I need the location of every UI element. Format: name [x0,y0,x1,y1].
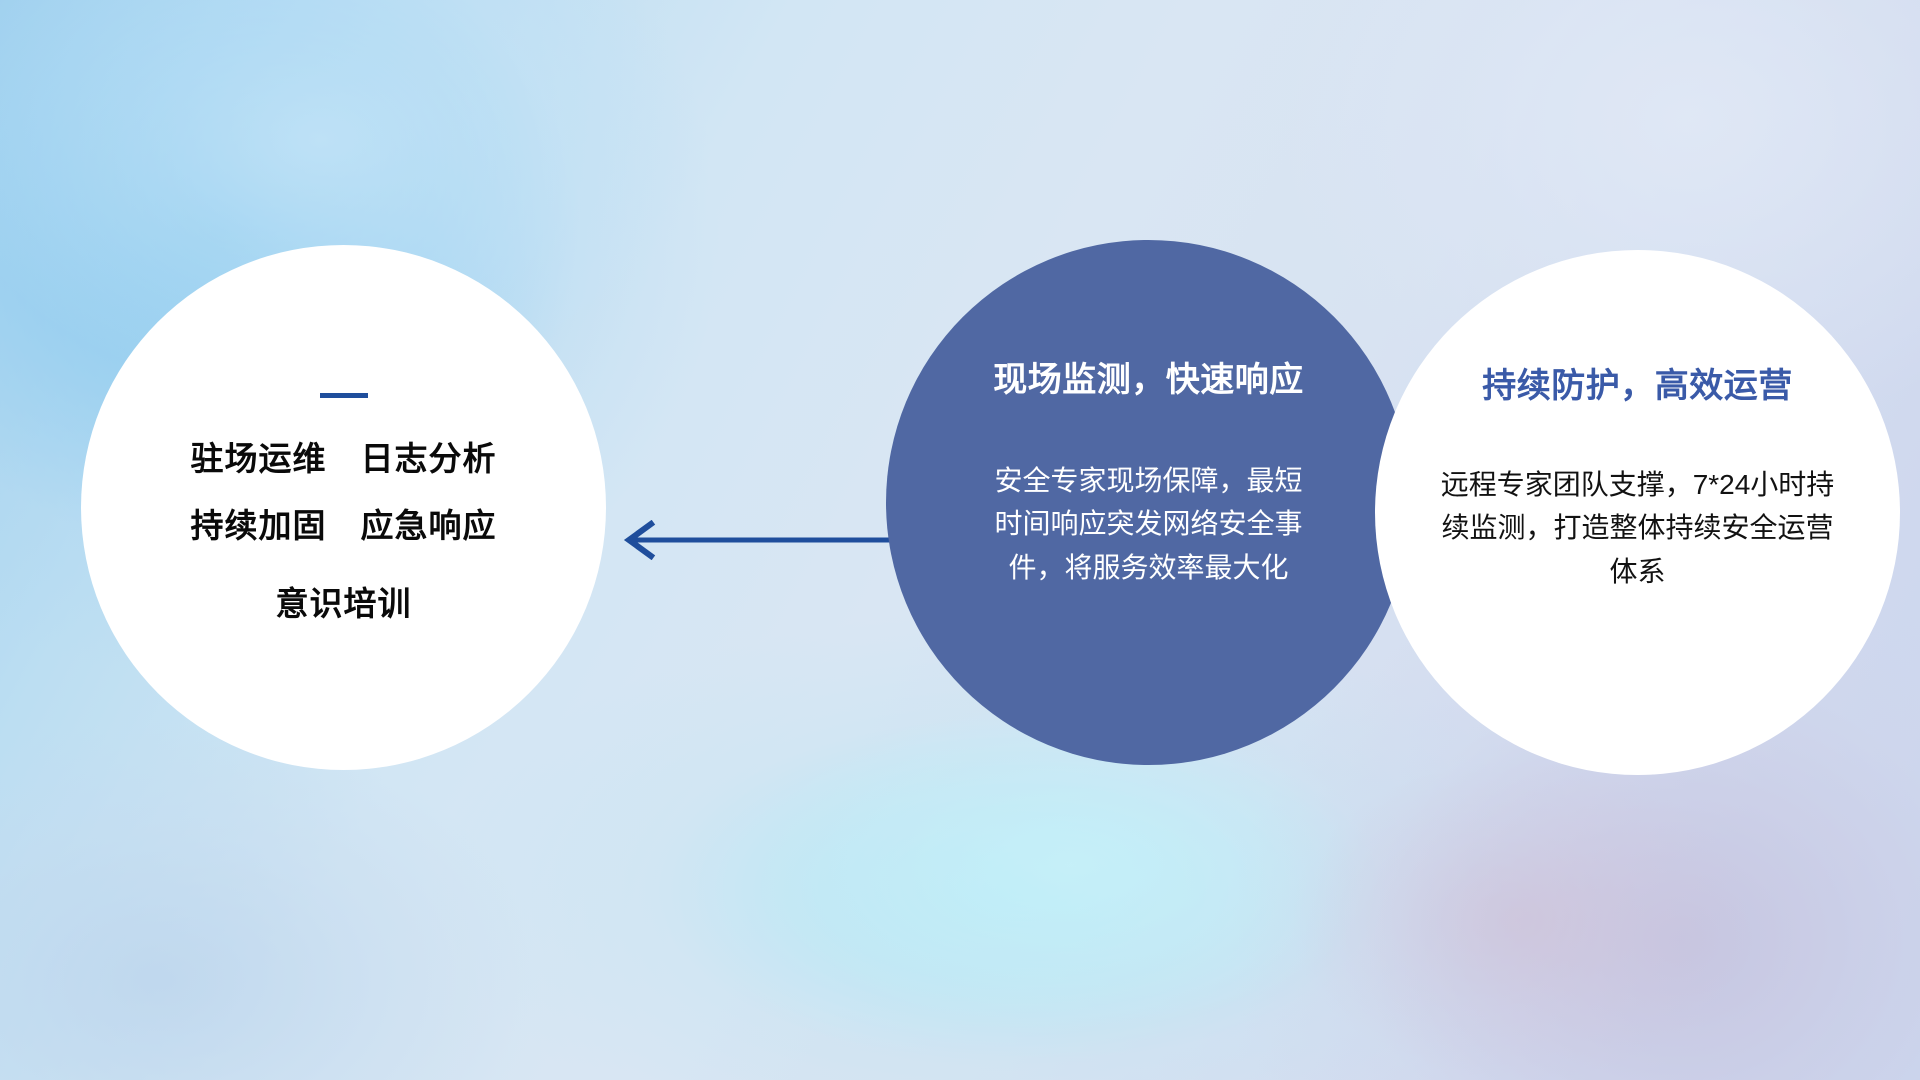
background-glow-lavender-warm [1290,760,1750,1080]
capabilities-content: 驻场运维 日志分析 持续加固 应急响应 意识培训 [81,245,606,770]
capability-line-1: 驻场运维 日志分析 [191,442,497,477]
capability-line-3: 意识培训 [276,587,412,622]
connector-arrow [605,520,895,560]
continuous-protection-body: 远程专家团队支撑，7*24小时持续监测，打造整体持续安全运营体系 [1429,463,1847,593]
accent-dash-icon [320,393,368,398]
onsite-monitoring-content: 现场监测，快速响应 安全专家现场保障，最短时间响应突发网络安全事件，将服务效率最… [886,240,1411,765]
background-glow-bottom-left [0,720,540,1080]
onsite-monitoring-title: 现场监测，快速响应 [993,352,1304,401]
onsite-monitoring-body: 安全专家现场保障，最短时间响应突发网络安全事件，将服务效率最大化 [984,459,1314,589]
slide-canvas: 驻场运维 日志分析 持续加固 应急响应 意识培训 现场监测，快速响应 安全专家现… [0,0,1920,1080]
capability-line-2: 持续加固 应急响应 [191,509,497,544]
continuous-protection-content: 持续防护，高效运营 远程专家团队支撑，7*24小时持续监测，打造整体持续安全运营… [1375,250,1900,775]
left-arrow-icon [605,520,895,560]
continuous-protection-title: 持续防护，高效运营 [1482,358,1793,407]
